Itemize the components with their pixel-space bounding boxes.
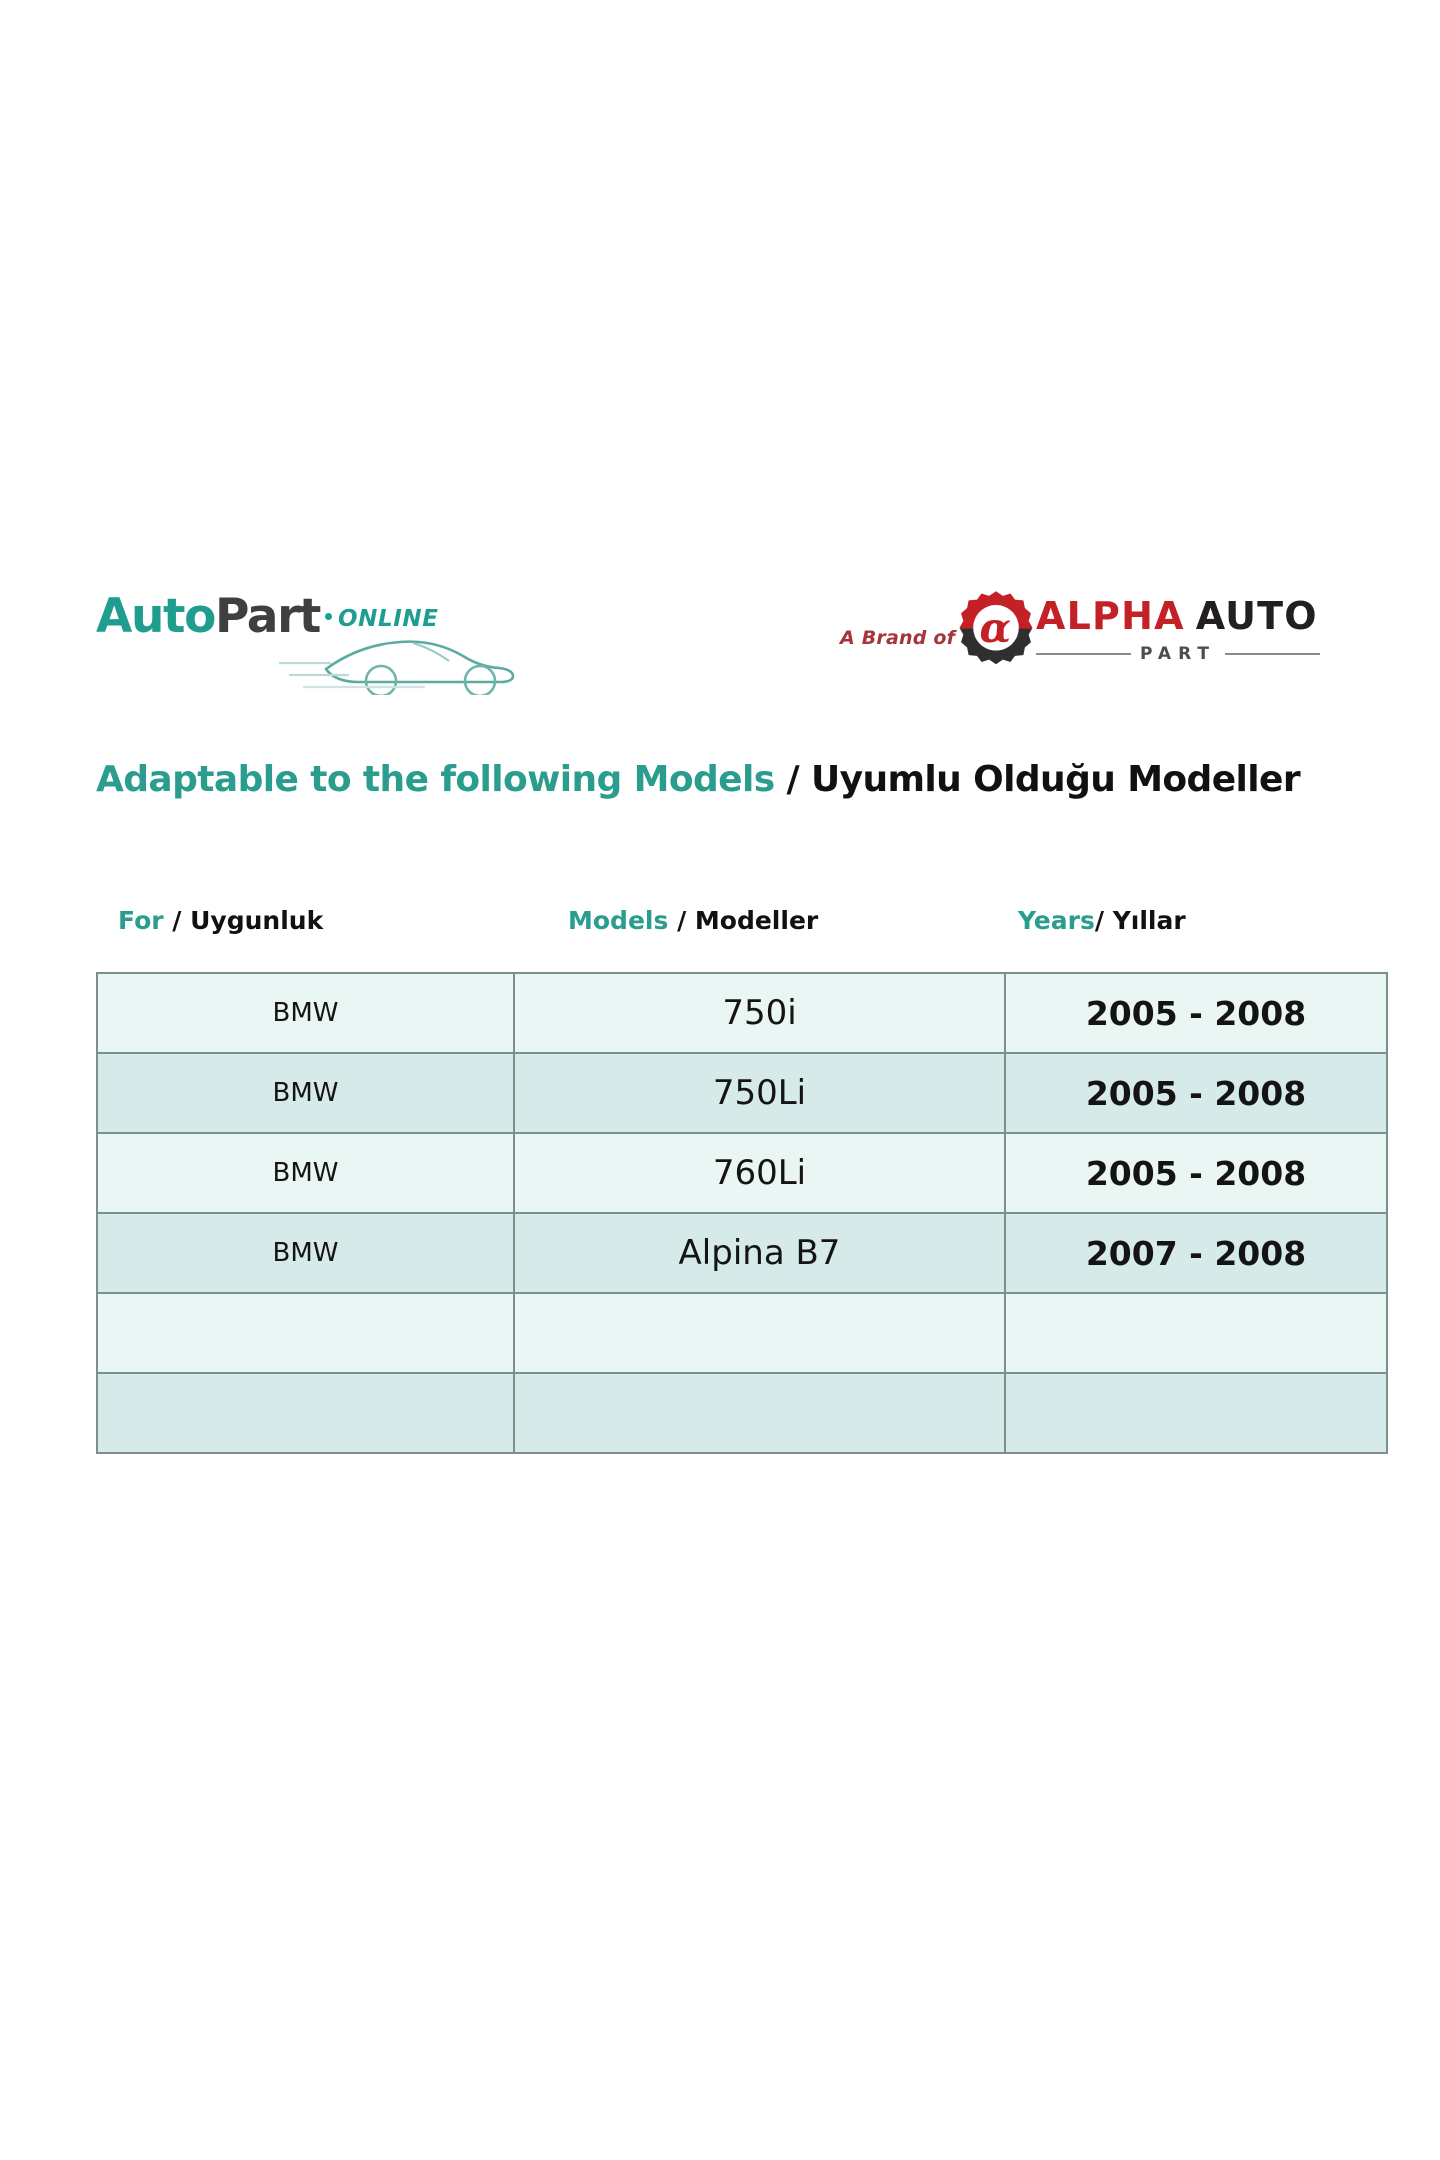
column-header-years-turkish: Yıllar [1113,906,1186,935]
table-row: BMW 750i 2005 - 2008 [97,973,1387,1053]
cell-for [97,1293,514,1373]
gear-alpha-icon: α [958,589,1034,665]
column-header-for-english: For [118,906,164,935]
table-row [97,1293,1387,1373]
cell-model: Alpina B7 [514,1213,1005,1293]
column-header-for-separator: / [164,906,191,935]
cell-for: BMW [97,1213,514,1293]
cell-years [1005,1373,1387,1453]
logo-dot-separator [325,613,332,620]
logo-auto-text: Auto [96,589,215,644]
cell-for [97,1373,514,1453]
cell-years: 2005 - 2008 [1005,973,1387,1053]
table-column-headers: For / Uygunluk Models / Modeller Years/ … [96,908,1296,950]
table-row [97,1373,1387,1453]
alpha-auto-wordmark: ALPHAAUTO [1036,597,1318,635]
part-rule-left [1036,653,1131,655]
page-title-turkish: Uyumlu Olduğu Modeller [811,759,1300,800]
alpha-auto-part-brand: A Brand of α [840,581,1320,696]
page-title-english: Adaptable to the following Models [96,759,775,800]
logo-band: AutoPartONLINE A Brand of [0,575,1440,710]
page-canvas: AutoPartONLINE A Brand of [0,0,1440,2160]
a-brand-of-label: A Brand of [840,627,955,649]
column-header-for: For / Uygunluk [118,908,323,933]
brand-part-row: PART [1036,643,1320,665]
autopart-online-logo: AutoPartONLINE [96,575,526,705]
compatibility-table: BMW 750i 2005 - 2008 BMW 750Li 2005 - 20… [96,972,1388,1454]
column-header-for-turkish: Uygunluk [190,906,323,935]
column-header-years: Years/ Yıllar [1018,908,1186,933]
svg-text:α: α [979,603,1011,652]
column-header-years-separator: / [1095,906,1113,935]
cell-years: 2005 - 2008 [1005,1133,1387,1213]
cell-years: 2005 - 2008 [1005,1053,1387,1133]
column-header-models-separator: / [668,906,695,935]
cell-model [514,1373,1005,1453]
cell-years: 2007 - 2008 [1005,1213,1387,1293]
column-header-models-turkish: Modeller [695,906,818,935]
cell-model: 750i [514,973,1005,1053]
page-title: Adaptable to the following Models / Uyum… [96,762,1300,798]
page-title-separator: / [775,759,811,800]
table-row: BMW 750Li 2005 - 2008 [97,1053,1387,1133]
brand-auto-text: AUTO [1196,594,1318,638]
table-row: BMW 760Li 2005 - 2008 [97,1133,1387,1213]
compatibility-table-body: BMW 750i 2005 - 2008 BMW 750Li 2005 - 20… [97,973,1387,1453]
table-row: BMW Alpina B7 2007 - 2008 [97,1213,1387,1293]
brand-alpha-text: ALPHA [1036,594,1185,638]
cell-for: BMW [97,1133,514,1213]
column-header-years-english: Years [1018,906,1095,935]
column-header-models: Models / Modeller [568,908,818,933]
cell-for: BMW [97,973,514,1053]
part-rule-right [1225,653,1320,655]
brand-part-text: PART [1140,644,1216,664]
cell-for: BMW [97,1053,514,1133]
car-silhouette-icon [274,623,519,695]
cell-years [1005,1293,1387,1373]
cell-model [514,1293,1005,1373]
column-header-models-english: Models [568,906,668,935]
cell-model: 750Li [514,1053,1005,1133]
cell-model: 760Li [514,1133,1005,1213]
